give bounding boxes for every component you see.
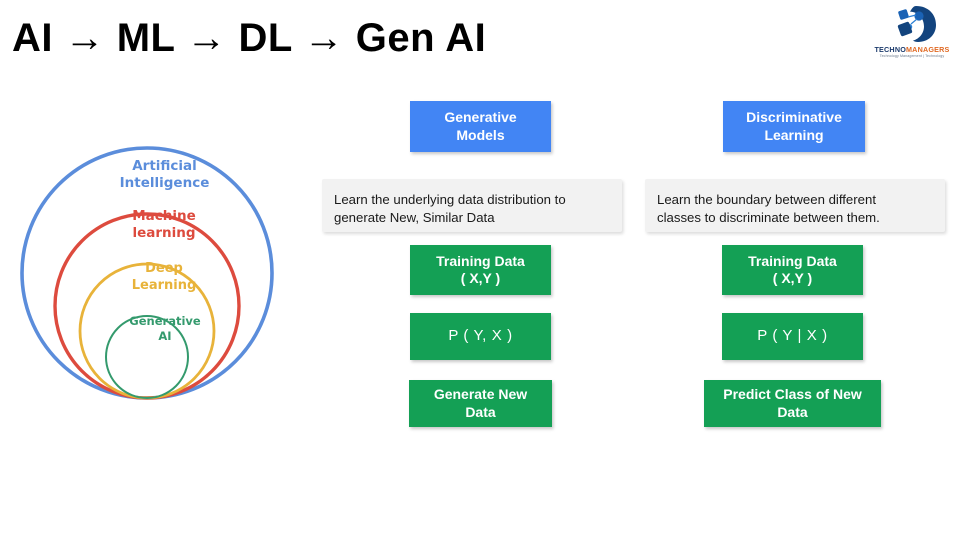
logo-wordmark: TECHNOMANAGERS bbox=[868, 45, 956, 54]
venn-label-generative-ai: Generative AI bbox=[98, 314, 232, 343]
slide-canvas: AI → ML → DL → Gen AI TECHNOMANAGERS Tec… bbox=[0, 0, 960, 540]
page-title: AI → ML → DL → Gen AI bbox=[12, 16, 486, 61]
column-note-discriminative-learning: Learn the boundary between different cla… bbox=[645, 179, 945, 232]
nested-circles-diagram: Artificial Intelligence Machine learning… bbox=[18, 145, 276, 410]
logo-tagline: Technology Management | Technology bbox=[868, 54, 956, 58]
column-header-discriminative-learning[interactable]: Discriminative Learning bbox=[723, 101, 865, 152]
logo-word-second: MANAGERS bbox=[906, 45, 950, 54]
generative-step-joint-probability[interactable]: P ( Y, X ) bbox=[410, 313, 551, 360]
column-note-generative-models: Learn the underlying data distribution t… bbox=[322, 179, 622, 232]
discriminative-step-predict-class[interactable]: Predict Class of New Data bbox=[704, 380, 881, 427]
venn-label-machine-learning: Machine learning bbox=[88, 208, 240, 243]
brand-logo: TECHNOMANAGERS Technology Management | T… bbox=[868, 4, 956, 64]
column-header-generative-models[interactable]: Generative Models bbox=[410, 101, 551, 152]
logo-mark-icon bbox=[886, 4, 938, 44]
venn-label-deep-learning: Deep Learning bbox=[94, 261, 234, 294]
generative-step-training-data[interactable]: Training Data ( X,Y ) bbox=[410, 245, 551, 295]
discriminative-step-conditional-probability[interactable]: P ( Y | X ) bbox=[722, 313, 863, 360]
venn-label-artificial-intelligence: Artificial Intelligence bbox=[82, 158, 247, 193]
discriminative-step-training-data[interactable]: Training Data ( X,Y ) bbox=[722, 245, 863, 295]
generative-step-generate-new-data[interactable]: Generate New Data bbox=[409, 380, 552, 427]
logo-word-first: TECHNO bbox=[874, 45, 906, 54]
